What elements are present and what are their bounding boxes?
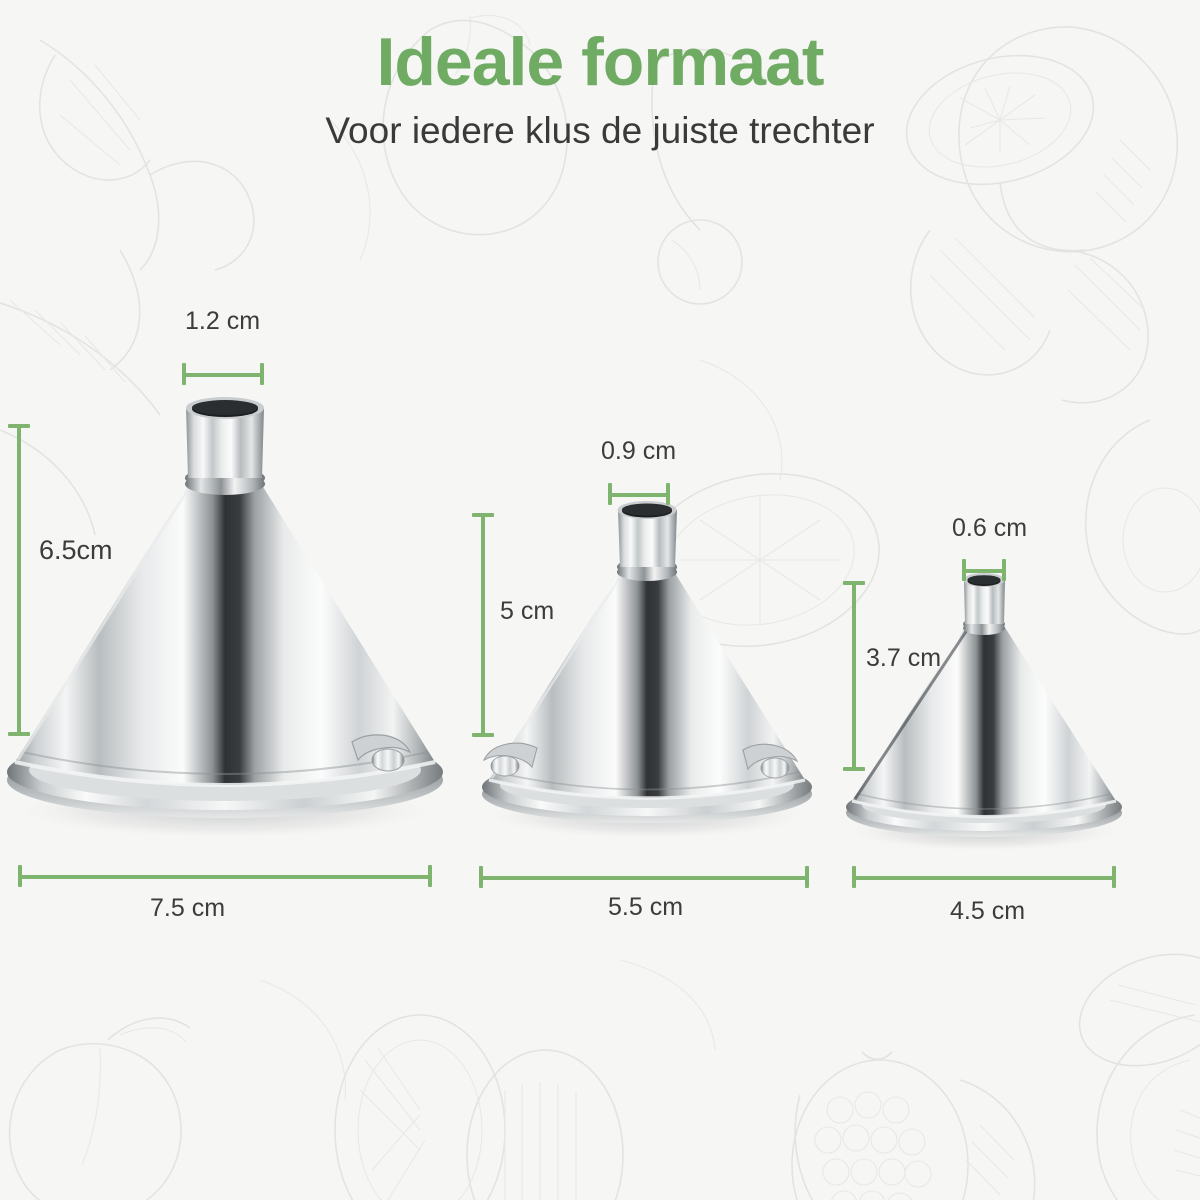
dimension-line-height-large (8, 424, 30, 736)
dimension-cap-right (805, 866, 809, 888)
dimension-bar (962, 569, 1006, 573)
dimension-cap-right (1112, 866, 1116, 888)
product-funnel-large[interactable] (0, 390, 450, 850)
dimension-cap-left (18, 865, 22, 887)
label-height-medium: 5 cm (500, 597, 554, 626)
dimension-cap-right (1002, 559, 1006, 581)
label-rim-diameter-large: 7.5 cm (150, 894, 225, 923)
page-subtitle: Voor iedere klus de juiste trechter (0, 96, 1200, 154)
dimension-cap-bottom (472, 733, 494, 737)
dimension-bar (852, 876, 1116, 880)
dimension-cap-left (479, 866, 483, 888)
product-funnel-medium[interactable] (475, 498, 820, 850)
label-rim-diameter-medium: 5.5 cm (608, 893, 683, 922)
dimension-line-height-medium (472, 513, 494, 737)
dimension-cap-top (472, 513, 494, 517)
label-spout-diameter-large: 1.2 cm (185, 307, 260, 336)
dimension-line-spout-medium (608, 483, 670, 505)
dimension-line-height-small (843, 581, 865, 771)
dimension-bar (481, 513, 485, 737)
dimension-line-spout-small (962, 559, 1006, 581)
label-spout-diameter-small: 0.6 cm (952, 514, 1027, 543)
dimension-line-rim-small (852, 866, 1116, 888)
header-block: Ideale formaat Voor iedere klus de juist… (0, 0, 1200, 154)
dimension-cap-left (962, 559, 966, 581)
product-comparison-stage: 1.2 cm 6.5cm 7.5 cm (0, 0, 1200, 1200)
dimension-line-spout-large (182, 363, 264, 385)
dimension-bar (479, 876, 809, 880)
page-title: Ideale formaat (0, 0, 1200, 96)
label-height-large: 6.5cm (39, 535, 113, 566)
dimension-bar (182, 373, 264, 377)
dimension-line-rim-medium (479, 866, 809, 888)
dimension-bar (608, 493, 670, 497)
label-spout-diameter-medium: 0.9 cm (601, 437, 676, 466)
dimension-cap-right (428, 865, 432, 887)
dimension-cap-left (182, 363, 186, 385)
dimension-cap-top (843, 581, 865, 585)
dimension-cap-bottom (843, 767, 865, 771)
dimension-cap-right (666, 483, 670, 505)
dimension-cap-bottom (8, 732, 30, 736)
dimension-cap-left (852, 866, 856, 888)
dimension-cap-top (8, 424, 30, 428)
label-height-small: 3.7 cm (866, 644, 941, 673)
dimension-cap-left (608, 483, 612, 505)
dimension-bar (18, 875, 432, 879)
dimension-bar (852, 581, 856, 771)
dimension-cap-right (260, 363, 264, 385)
dimension-line-rim-large (18, 865, 432, 887)
dimension-bar (17, 424, 21, 736)
label-rim-diameter-small: 4.5 cm (950, 897, 1025, 926)
product-funnel-small[interactable] (838, 570, 1130, 858)
